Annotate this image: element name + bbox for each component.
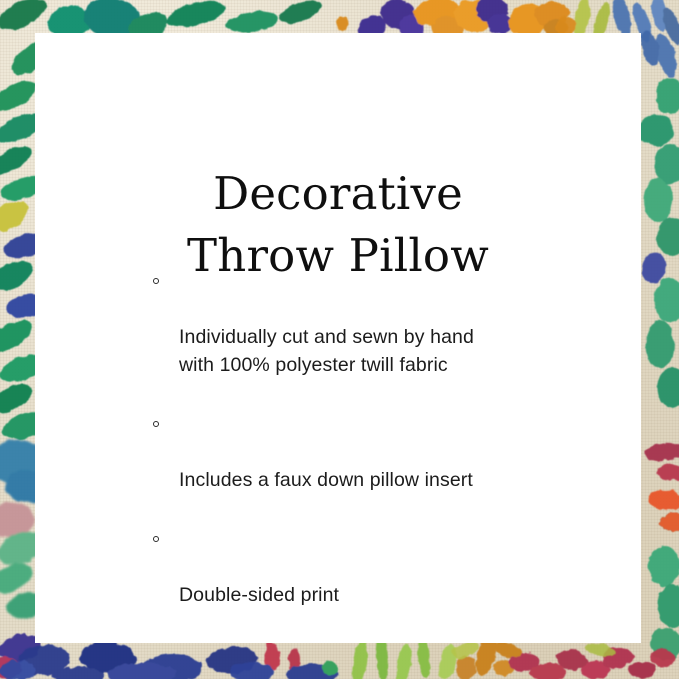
product-info-graphic: Decorative Throw Pillow Individually cut… xyxy=(0,0,679,679)
feature-list: Individually cut and sewn by hand with 1… xyxy=(147,269,611,643)
hollow-circle-bullet-icon xyxy=(153,536,159,542)
feature-text: Individually cut and sewn by hand with 1… xyxy=(179,326,474,376)
product-info-card: Decorative Throw Pillow Individually cut… xyxy=(35,33,641,643)
list-item: Individually cut and sewn by hand with 1… xyxy=(147,269,611,380)
hollow-circle-bullet-icon xyxy=(153,278,159,284)
list-item: Double-sided print xyxy=(147,527,611,610)
feature-text: Double-sided print xyxy=(179,584,339,606)
list-item: Concealed zipper closure for a seamless … xyxy=(147,642,611,643)
hollow-circle-bullet-icon xyxy=(153,421,159,427)
feature-text: Includes a faux down pillow insert xyxy=(179,469,473,491)
list-item: Includes a faux down pillow insert xyxy=(147,412,611,495)
